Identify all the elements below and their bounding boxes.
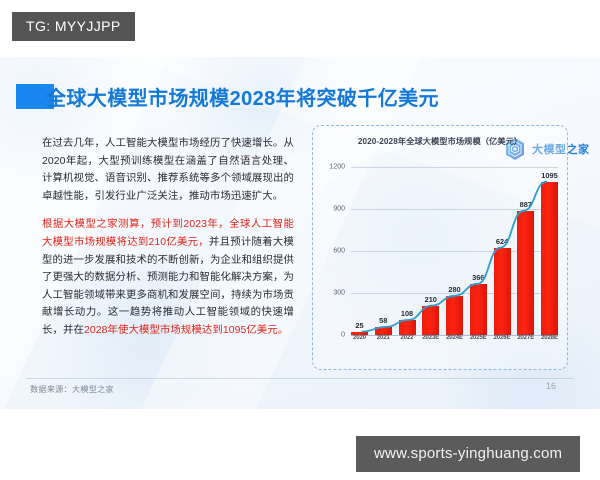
highlight-tail: 2028年使大模型市场规模达到1095亿美元。 bbox=[84, 325, 288, 336]
chart-card: 2020-2028年全球大模型市场规模（亿美元） 030060090012002… bbox=[312, 125, 568, 370]
chart-y-tick-label: 1200 bbox=[329, 164, 345, 171]
chart-title: 2020-2028年全球大模型市场规模（亿美元） bbox=[313, 135, 567, 147]
chart-y-tick-label: 600 bbox=[333, 248, 345, 255]
chart-x-tick-label: 2023E bbox=[422, 335, 439, 341]
trend-line bbox=[351, 153, 558, 335]
chart-trend-path bbox=[363, 182, 547, 332]
chart-x-tick-label: 2020 bbox=[351, 335, 368, 341]
chart-x-tick-label: 2028E bbox=[541, 335, 558, 341]
chart-x-tick-label: 2021 bbox=[375, 335, 392, 341]
chart-y-tick-label: 900 bbox=[333, 206, 345, 213]
chart-x-tick-label: 2022 bbox=[399, 335, 416, 341]
slide-title: 全球大模型市场规模2028年将突破千亿美元 bbox=[46, 82, 439, 111]
chart-x-tick-label: 2024E bbox=[446, 335, 463, 341]
chart-x-axis: 2020202120222023E2024E2025E2026E2027E202… bbox=[351, 335, 558, 341]
presentation-slide: 全球大模型市场规模2028年将突破千亿美元 bbox=[0, 57, 600, 409]
highlight-paragraph: 根据大模型之家测算，预计到2023年，全球人工智能大模型市场规模将达到210亿美… bbox=[42, 216, 294, 339]
chart-x-tick-label: 2026E bbox=[494, 335, 511, 341]
chart-y-tick-label: 300 bbox=[333, 290, 345, 297]
screenshot-root: TG: MYYJJPP 全球大模型市场规模2028年将突破千亿美元 bbox=[0, 0, 600, 480]
data-source-label: 数据来源：大模型之家 bbox=[30, 383, 114, 395]
telegram-watermark: TG: MYYJJPP bbox=[12, 12, 135, 41]
footer-divider bbox=[26, 378, 574, 379]
intro-paragraph: 在过去几年，人工智能大模型市场经历了快速增长。从2020年起，大型预训练模型在涵… bbox=[42, 135, 294, 205]
text-column: 在过去几年，人工智能大模型市场经历了快速增长。从2020年起，大型预训练模型在涵… bbox=[42, 135, 294, 340]
chart-x-tick-label: 2027E bbox=[517, 335, 534, 341]
chart-x-tick-label: 2025E bbox=[470, 335, 487, 341]
highlight-middle: 并且预计随着大模型的进一步发展和技术的不断创新，为企业和组织提供了更强大的数据分… bbox=[42, 237, 294, 336]
chart-y-tick-label: 0 bbox=[341, 332, 345, 339]
page-number: 16 bbox=[546, 381, 556, 391]
site-watermark: www.sports-yinghuang.com bbox=[356, 436, 580, 472]
